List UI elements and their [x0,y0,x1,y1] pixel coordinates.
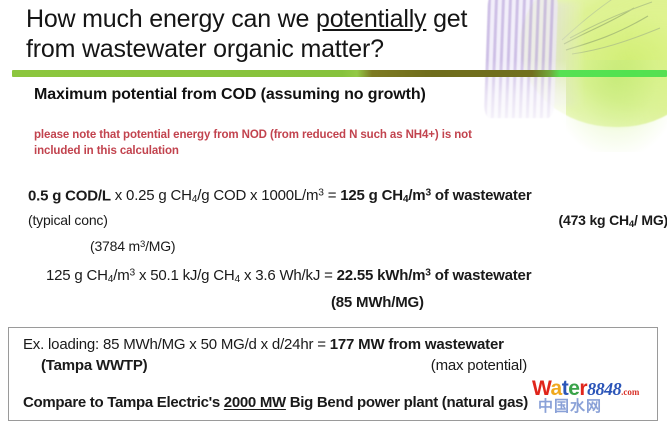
calc1-alt-post: / MG) [634,212,667,228]
calc1-bold-start: 0.5 g COD/L [28,187,111,204]
box-line3-underlined: 2000 MW [224,394,286,411]
box-line3-post: Big Bend power plant (natural gas) [286,394,528,411]
calc1-sup-1: 3 [318,188,323,199]
calc2-mid-pre: x 50.1 kJ/g CH [135,267,235,284]
calc2-line-1: 125 g CH4/m3 x 50.1 kJ/g CH4 x 3.6 Wh/kJ… [46,264,667,291]
calc2-result-pre: 22.55 kWh/m [337,267,426,284]
calc1-volume-pre: (3784 m [90,238,140,254]
calc2-line-2: (85 MWh/MG) [46,293,667,313]
box-line-2-right: (max potential) [431,357,527,374]
calc1-line-3: (3784 m3/MG) [28,235,667,256]
example-loading-box: Ex. loading: 85 MWh/MG x 50 MG/d x d/24h… [8,327,658,421]
calc1-volume-post: /MG) [145,238,175,254]
calc2-result-alt: (85 MWh/MG) [331,294,424,311]
box-line3-pre: Compare to Tampa Electric's [23,394,224,411]
box-line-2-left: (Tampa WWTP) [41,357,147,374]
box-line1-plain: Ex. loading: 85 MWh/MG x 50 MG/d x d/24h… [23,336,330,353]
bulb-neck [548,2,582,106]
calc2-mid-post: x 3.6 Wh/kJ = [240,267,337,284]
calc2-result: 22.55 kWh/m3 of wastewater [337,267,532,284]
box-line1-bold: 177 MW from wastewater [330,336,504,353]
calc1-typical-conc: (typical conc) [28,212,108,228]
calc1-result-pre: 125 g CH [340,187,403,204]
calculation-block-1: 0.5 g COD/L x 0.25 g CH4/g COD x 1000L/m… [28,184,667,256]
section-subheading: Maximum potential from COD (assuming no … [34,86,426,104]
calc1-line-2: (typical conc) (473 kg CH4/ MG) [28,211,667,230]
calculation-block-2: 125 g CH4/m3 x 50.1 kJ/g CH4 x 3.6 Wh/kJ… [46,264,667,313]
calc1-line-1: 0.5 g COD/L x 0.25 g CH4/g COD x 1000L/m… [28,184,667,210]
calc1-mid-1: x 0.25 g CH [115,187,192,204]
calc2-start-pre: 125 g CH [46,267,108,284]
calc1-equals: = [328,187,341,204]
calc1-alt-pre: (473 kg CH [559,212,629,228]
calc1-result-post: of wastewater [431,187,532,204]
box-line-3: Compare to Tampa Electric's 2000 MW Big … [23,394,528,411]
red-note-text: please note that potential energy from N… [34,127,504,159]
calc1-result-mid: /m [408,187,425,204]
slide-canvas: How much energy can we potentially get f… [0,0,667,429]
calc2-result-post: of wastewater [431,267,532,284]
calc1-result-alt-units: (473 kg CH4/ MG) [559,211,667,234]
box-line-1: Ex. loading: 85 MWh/MG x 50 MG/d x d/24h… [23,336,504,353]
title-underlined-word: potentially [316,5,426,33]
title-text-pre: How much energy can we [26,5,316,33]
slide-title: How much energy can we potentially get f… [26,4,496,64]
calc2-start: 125 g CH4/m3 x 50.1 kJ/g CH4 x 3.6 Wh/kJ… [46,267,337,284]
calc1-mid-2: /g COD x 1000L/m [197,187,318,204]
divider-bar [12,70,667,77]
calc1-result: 125 g CH4/m3 of wastewater [340,187,531,204]
bulb-glass-icon [520,0,667,127]
bulb-filament-icon [556,0,667,100]
title-line-2: from wastewater organic matter? [26,35,384,63]
bulb-glow-icon [545,8,667,128]
title-text-post: get [426,5,467,33]
calc2-start-mid: /m [113,267,129,284]
